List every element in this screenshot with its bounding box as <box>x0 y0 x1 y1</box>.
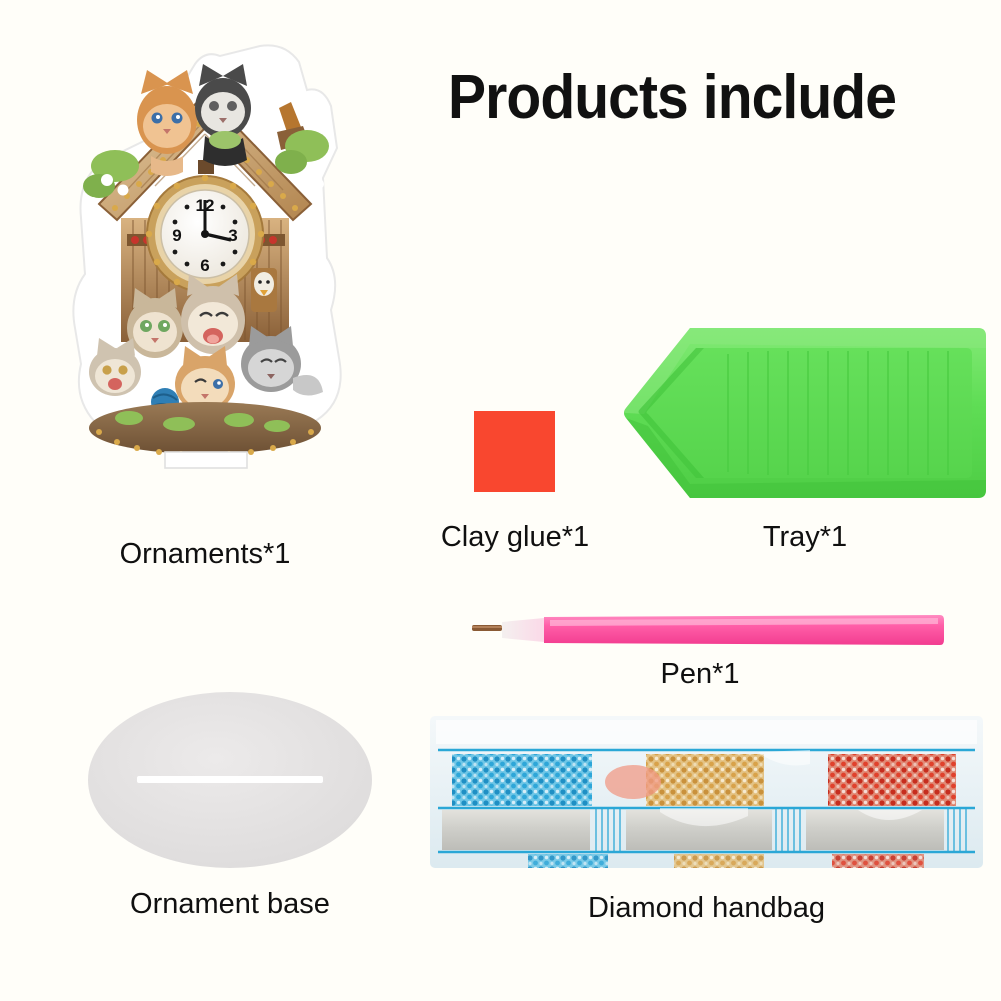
ornaments-image: 12 3 6 9 <box>55 28 355 473</box>
clock-center-pin <box>201 230 209 238</box>
page-title: Products include <box>448 62 896 133</box>
bag-coral-packet <box>605 765 661 799</box>
base-slot <box>137 776 323 783</box>
bag-diamond-row-lower <box>528 854 924 868</box>
ornament-mounting-tab <box>165 452 247 468</box>
clay-glue-icon <box>474 411 555 492</box>
cuckoo-bird <box>251 268 277 312</box>
tray-label: Tray*1 <box>700 521 910 554</box>
ornament-base-label: Ornament base <box>85 888 375 921</box>
clock-numeral-3: 3 <box>228 226 237 245</box>
diamond-handbag-label: Diamond handbag <box>428 892 985 925</box>
clock-face: 12 3 6 9 <box>146 175 264 293</box>
clock-numeral-9: 9 <box>172 226 181 245</box>
diamond-group-blue <box>452 754 592 806</box>
tray-inner-recess <box>647 348 973 478</box>
ornament-base-icon <box>85 690 375 870</box>
kitten-tabby-left <box>127 288 183 358</box>
ornaments-label: Ornaments*1 <box>55 538 355 571</box>
pen-label: Pen*1 <box>595 658 805 691</box>
kitten-laughing-center <box>181 274 245 354</box>
diamond-group-red <box>828 754 956 806</box>
diamond-handbag-icon <box>428 712 985 872</box>
pen-icon <box>470 612 945 648</box>
product-contents-infographic: Products include <box>0 0 1001 1001</box>
clay-glue-label: Clay glue*1 <box>410 521 620 554</box>
bag-diamond-row-upper <box>452 754 956 806</box>
tray-icon <box>618 318 990 508</box>
clock-numeral-6: 6 <box>200 256 209 275</box>
bag-top-sheen <box>436 720 977 744</box>
diamond-group-gold <box>646 754 764 806</box>
bag-label-1 <box>442 810 590 850</box>
pen-ferrule <box>502 618 544 642</box>
